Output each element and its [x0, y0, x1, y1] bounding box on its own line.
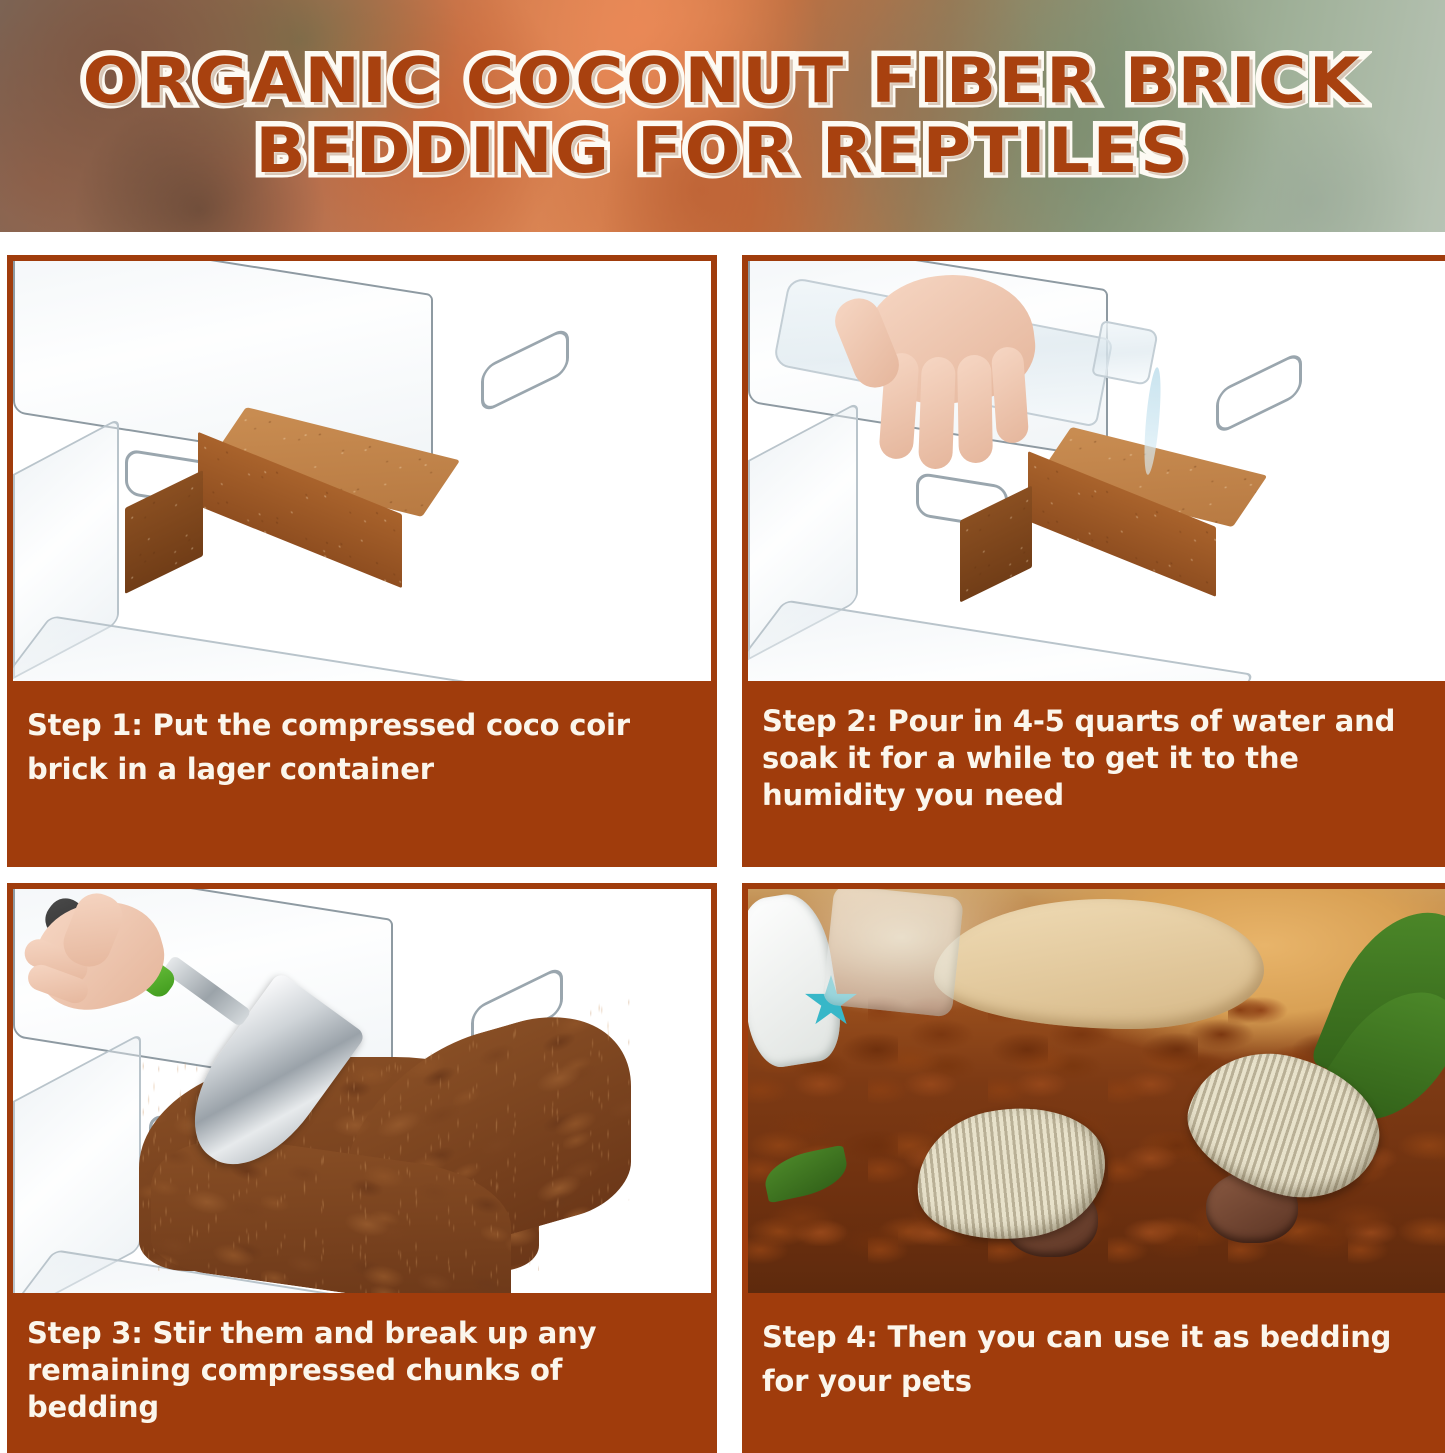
stirring-coir-illustration — [13, 889, 711, 1293]
steps-grid: Step 1: Put the compressed coco coir bri… — [0, 232, 1445, 1453]
bin-top-rim — [7, 615, 577, 687]
step-card-4: Step 4: Then you can use it as bedding f… — [742, 883, 1445, 1453]
bin-top-rim — [742, 600, 1255, 687]
bin-with-brick-illustration — [13, 261, 711, 681]
product-infographic: ORGANIC COCONUT FIBER BRICK BEDDING FOR … — [0, 0, 1445, 1453]
step-4-caption: Step 4: Then you can use it as bedding f… — [742, 1299, 1445, 1453]
step-2-photo — [742, 255, 1445, 687]
banner-title-block: ORGANIC COCONUT FIBER BRICK BEDDING FOR … — [0, 0, 1445, 232]
bin-handle-right — [481, 326, 569, 415]
hand-finger — [991, 346, 1030, 444]
hand-finger — [957, 355, 993, 464]
step-card-2: Step 2: Pour in 4-5 quarts of water and … — [742, 255, 1445, 867]
terrarium-bedding-illustration — [748, 889, 1445, 1293]
terrarium-rock — [934, 899, 1264, 1029]
water-bottle-neck — [1091, 320, 1159, 386]
step-3-photo — [7, 883, 717, 1299]
step-card-3: Step 3: Stir them and break up any remai… — [7, 883, 717, 1453]
header-banner: ORGANIC COCONUT FIBER BRICK BEDDING FOR … — [0, 0, 1445, 232]
hand-finger — [918, 356, 956, 469]
step-4-photo — [742, 883, 1445, 1299]
clear-scoop-decor — [822, 885, 964, 1018]
step-1-photo — [7, 255, 717, 687]
banner-title-line-2: BEDDING FOR REPTILES — [255, 118, 1190, 184]
step-3-caption: Step 3: Stir them and break up any remai… — [7, 1299, 717, 1453]
step-2-caption: Step 2: Pour in 4-5 quarts of water and … — [742, 687, 1445, 867]
step-1-caption: Step 1: Put the compressed coco coir bri… — [7, 687, 717, 867]
banner-title-line-1: ORGANIC COCONUT FIBER BRICK — [83, 48, 1363, 114]
step-card-1: Step 1: Put the compressed coco coir bri… — [7, 255, 717, 867]
bin-handle-right — [1216, 350, 1302, 436]
pouring-water-illustration — [748, 261, 1445, 681]
